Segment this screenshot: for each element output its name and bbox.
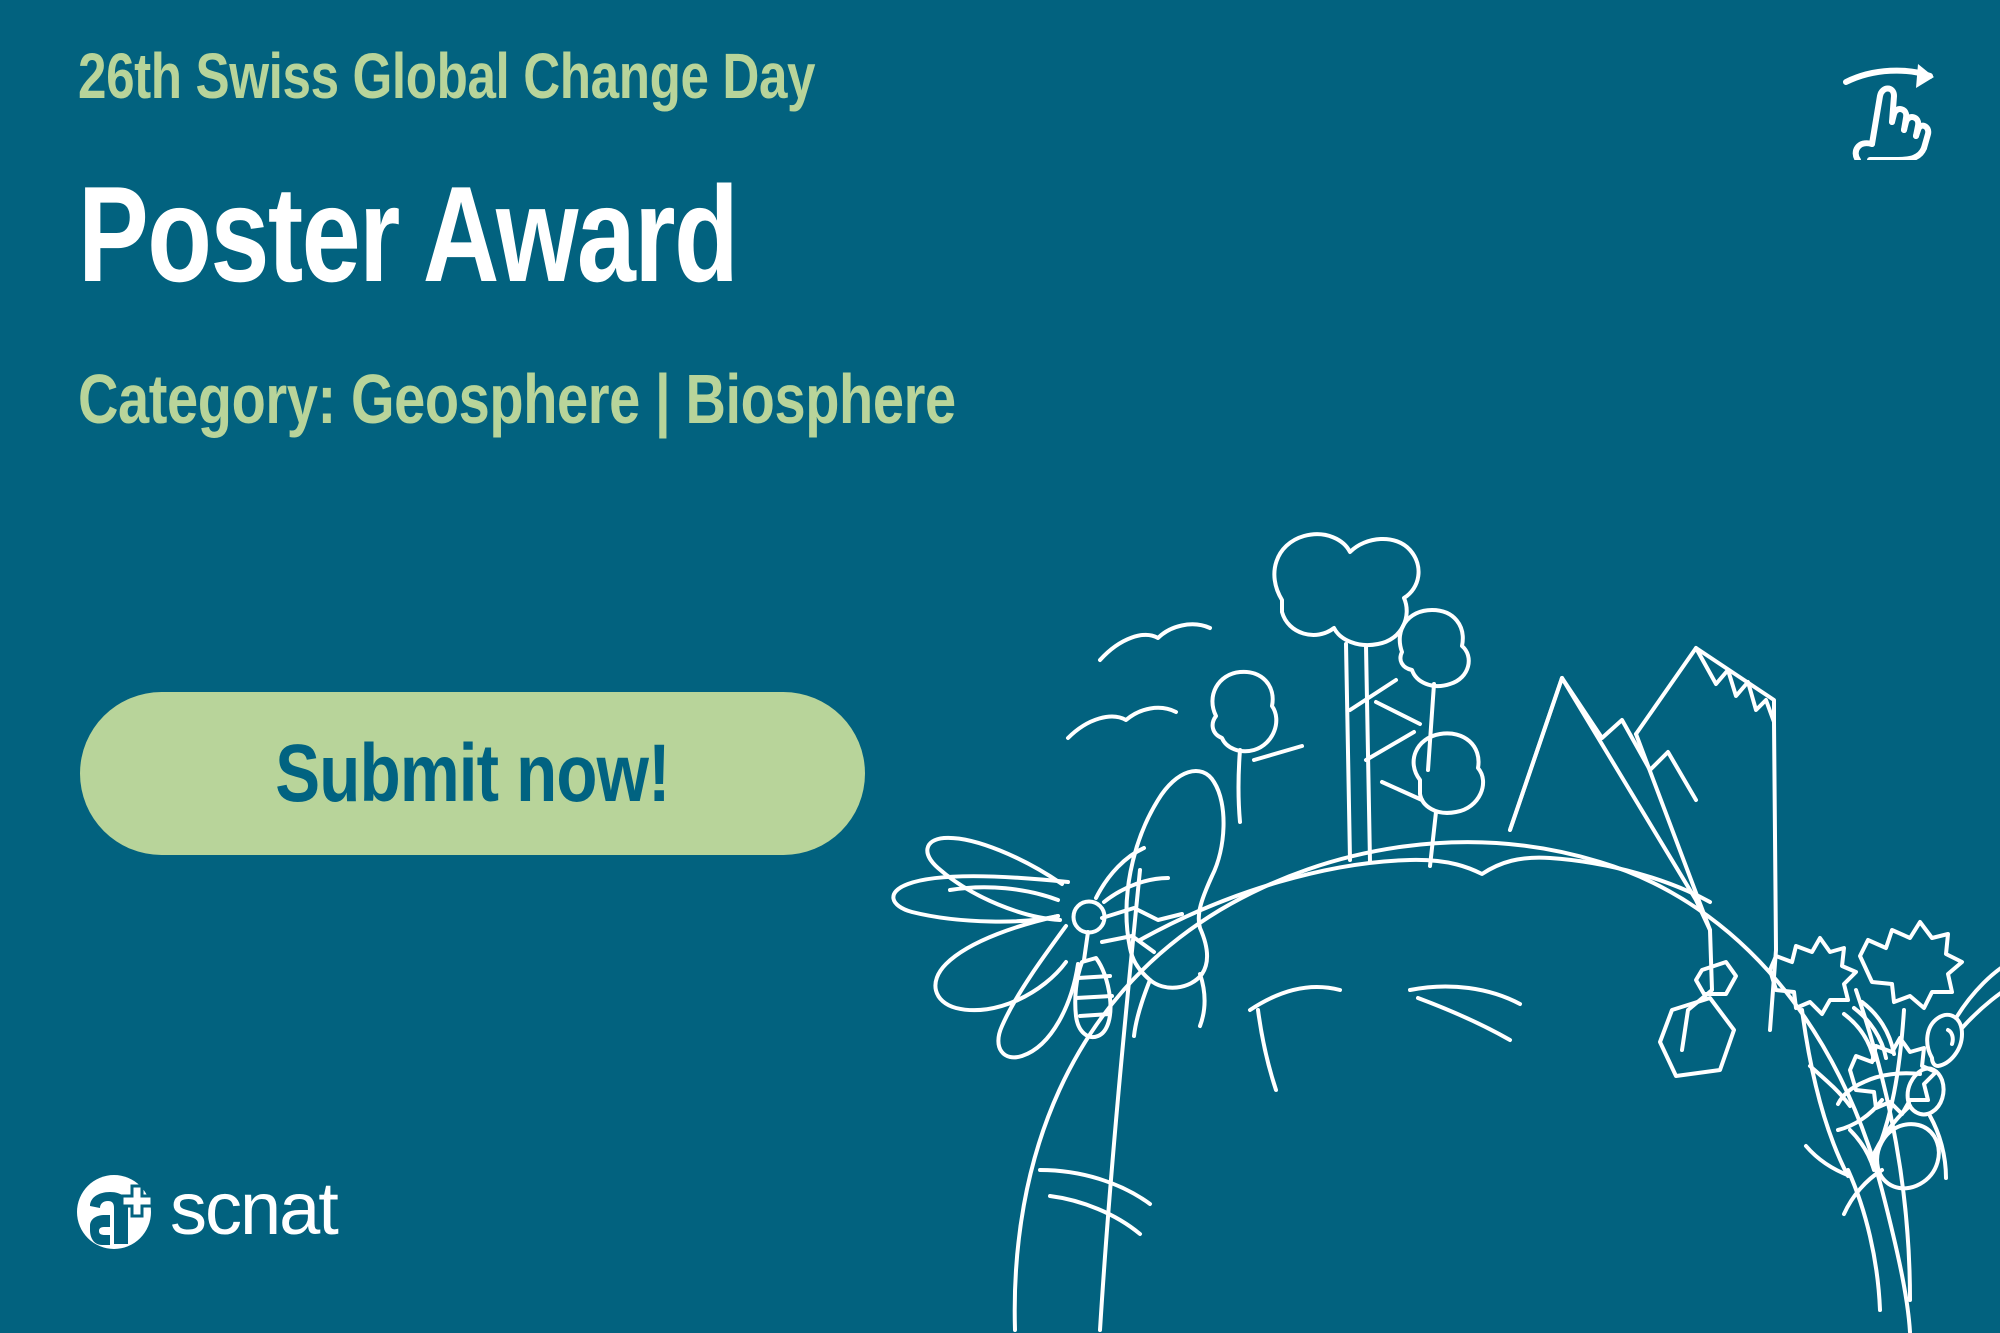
headline-block: 26th Swiss Global Change Day Poster Awar… xyxy=(78,44,1378,434)
poster-banner: 26th Swiss Global Change Day Poster Awar… xyxy=(0,0,2000,1333)
person-figure xyxy=(1126,771,1223,1036)
event-eyebrow: 26th Swiss Global Change Day xyxy=(78,44,1118,108)
illustration-svg xyxy=(810,470,2000,1333)
house xyxy=(1660,962,1736,1076)
birds-icon xyxy=(1068,624,1210,738)
category-label: Category: Geosphere | Biosphere xyxy=(78,364,1118,434)
ant xyxy=(1838,960,2000,1214)
scnat-logo[interactable]: scnat xyxy=(76,1172,442,1252)
submit-now-button[interactable]: Submit now! xyxy=(80,692,865,855)
bush xyxy=(1212,672,1302,822)
scnat-circle-a-cross-icon xyxy=(76,1172,154,1252)
mountain-right xyxy=(1636,648,1776,1050)
page-title: Poster Award xyxy=(78,166,1092,302)
submit-now-label: Submit now! xyxy=(275,727,669,821)
scnat-wordmark: scnat xyxy=(170,1172,442,1252)
tree-large xyxy=(1274,534,1418,862)
svg-text:scnat: scnat xyxy=(170,1172,339,1250)
swipe-right-hand-icon xyxy=(1840,48,1944,160)
mountain-left xyxy=(1510,678,1710,930)
globe-nature-illustration xyxy=(810,470,2000,1333)
